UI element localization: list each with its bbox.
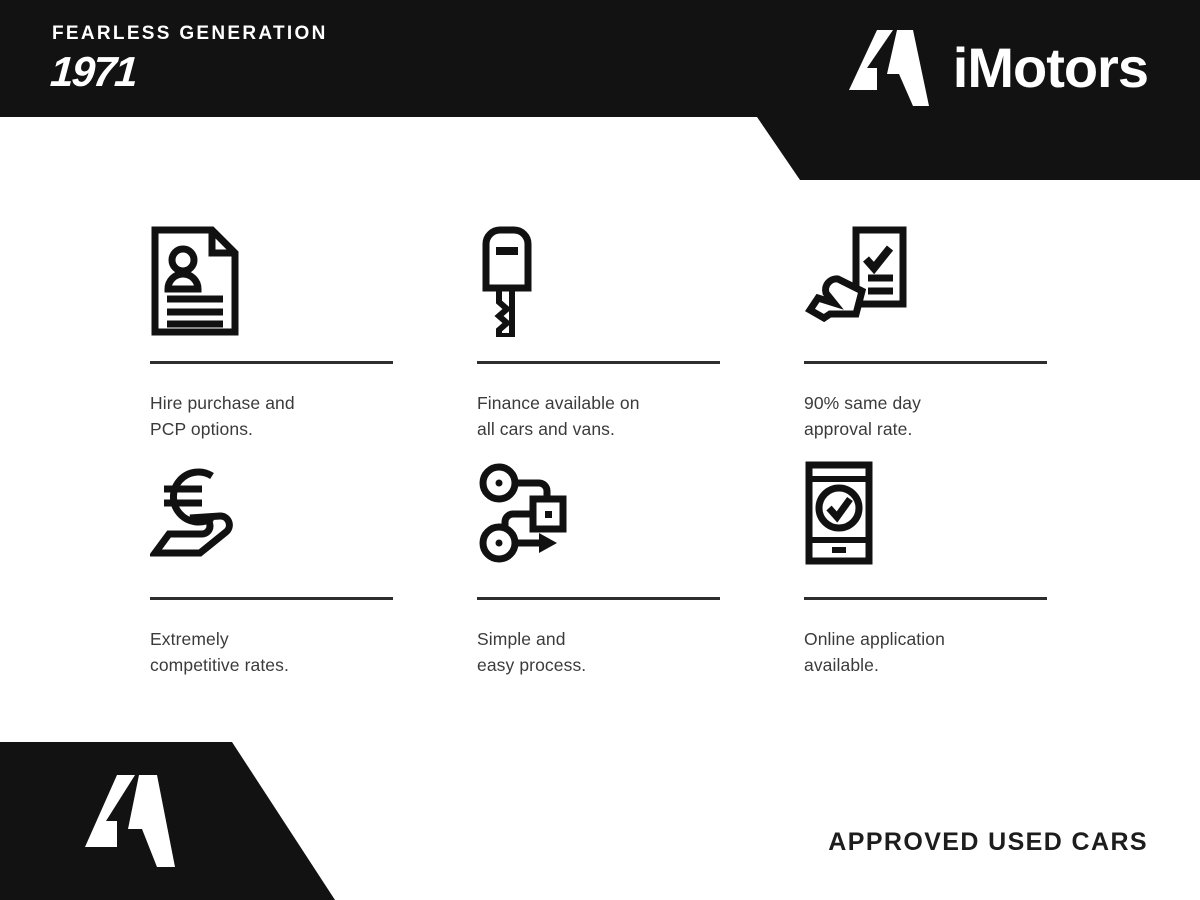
feature-icon-wrap	[477, 461, 722, 591]
feature-card: 90% same day approval rate.	[804, 225, 1049, 443]
heritage-tagline: FEARLESS GENERATION	[52, 24, 328, 43]
chevron-logo-icon	[82, 775, 178, 867]
feature-label: Simple and easy process.	[477, 626, 722, 679]
euro-in-hand-icon	[150, 461, 258, 563]
brand-lockup[interactable]: iMotors	[847, 30, 1148, 106]
heritage-block: FEARLESS GENERATION 1971	[52, 24, 328, 93]
feature-icon-wrap	[804, 225, 1049, 355]
feature-card: Online application available.	[804, 461, 1049, 679]
person-document-icon	[150, 225, 240, 337]
car-key-icon	[477, 225, 543, 337]
feature-label: Online application available.	[804, 626, 1049, 679]
heritage-year: 1971	[49, 51, 328, 93]
feature-icon-wrap	[150, 225, 395, 355]
feature-divider	[477, 361, 720, 364]
hand-holding-approved-document-icon	[804, 225, 908, 327]
feature-grid: Hire purchase and PCP options. Finance a…	[150, 225, 1050, 678]
smartphone-check-icon	[804, 461, 874, 565]
feature-label: Hire purchase and PCP options.	[150, 390, 395, 443]
feature-icon-wrap	[804, 461, 1049, 591]
brand-name: iMotors	[953, 40, 1148, 96]
feature-card: Hire purchase and PCP options.	[150, 225, 395, 443]
feature-card: Simple and easy process.	[477, 461, 722, 679]
feature-card: Extremely competitive rates.	[150, 461, 395, 679]
process-flowchart-icon	[477, 461, 581, 563]
feature-label: Finance available on all cars and vans.	[477, 390, 722, 443]
feature-card: Finance available on all cars and vans.	[477, 225, 722, 443]
feature-divider	[804, 361, 1047, 364]
feature-label: Extremely competitive rates.	[150, 626, 395, 679]
feature-label: 90% same day approval rate.	[804, 390, 1049, 443]
feature-divider	[150, 597, 393, 600]
feature-icon-wrap	[150, 461, 395, 591]
chevron-logo-icon	[847, 30, 931, 106]
feature-divider	[804, 597, 1047, 600]
promo-page: FEARLESS GENERATION 1971 iMotors	[0, 0, 1200, 900]
feature-divider	[477, 597, 720, 600]
feature-divider	[150, 361, 393, 364]
footer-tagline: APPROVED USED CARS	[828, 828, 1148, 857]
feature-icon-wrap	[477, 225, 722, 355]
